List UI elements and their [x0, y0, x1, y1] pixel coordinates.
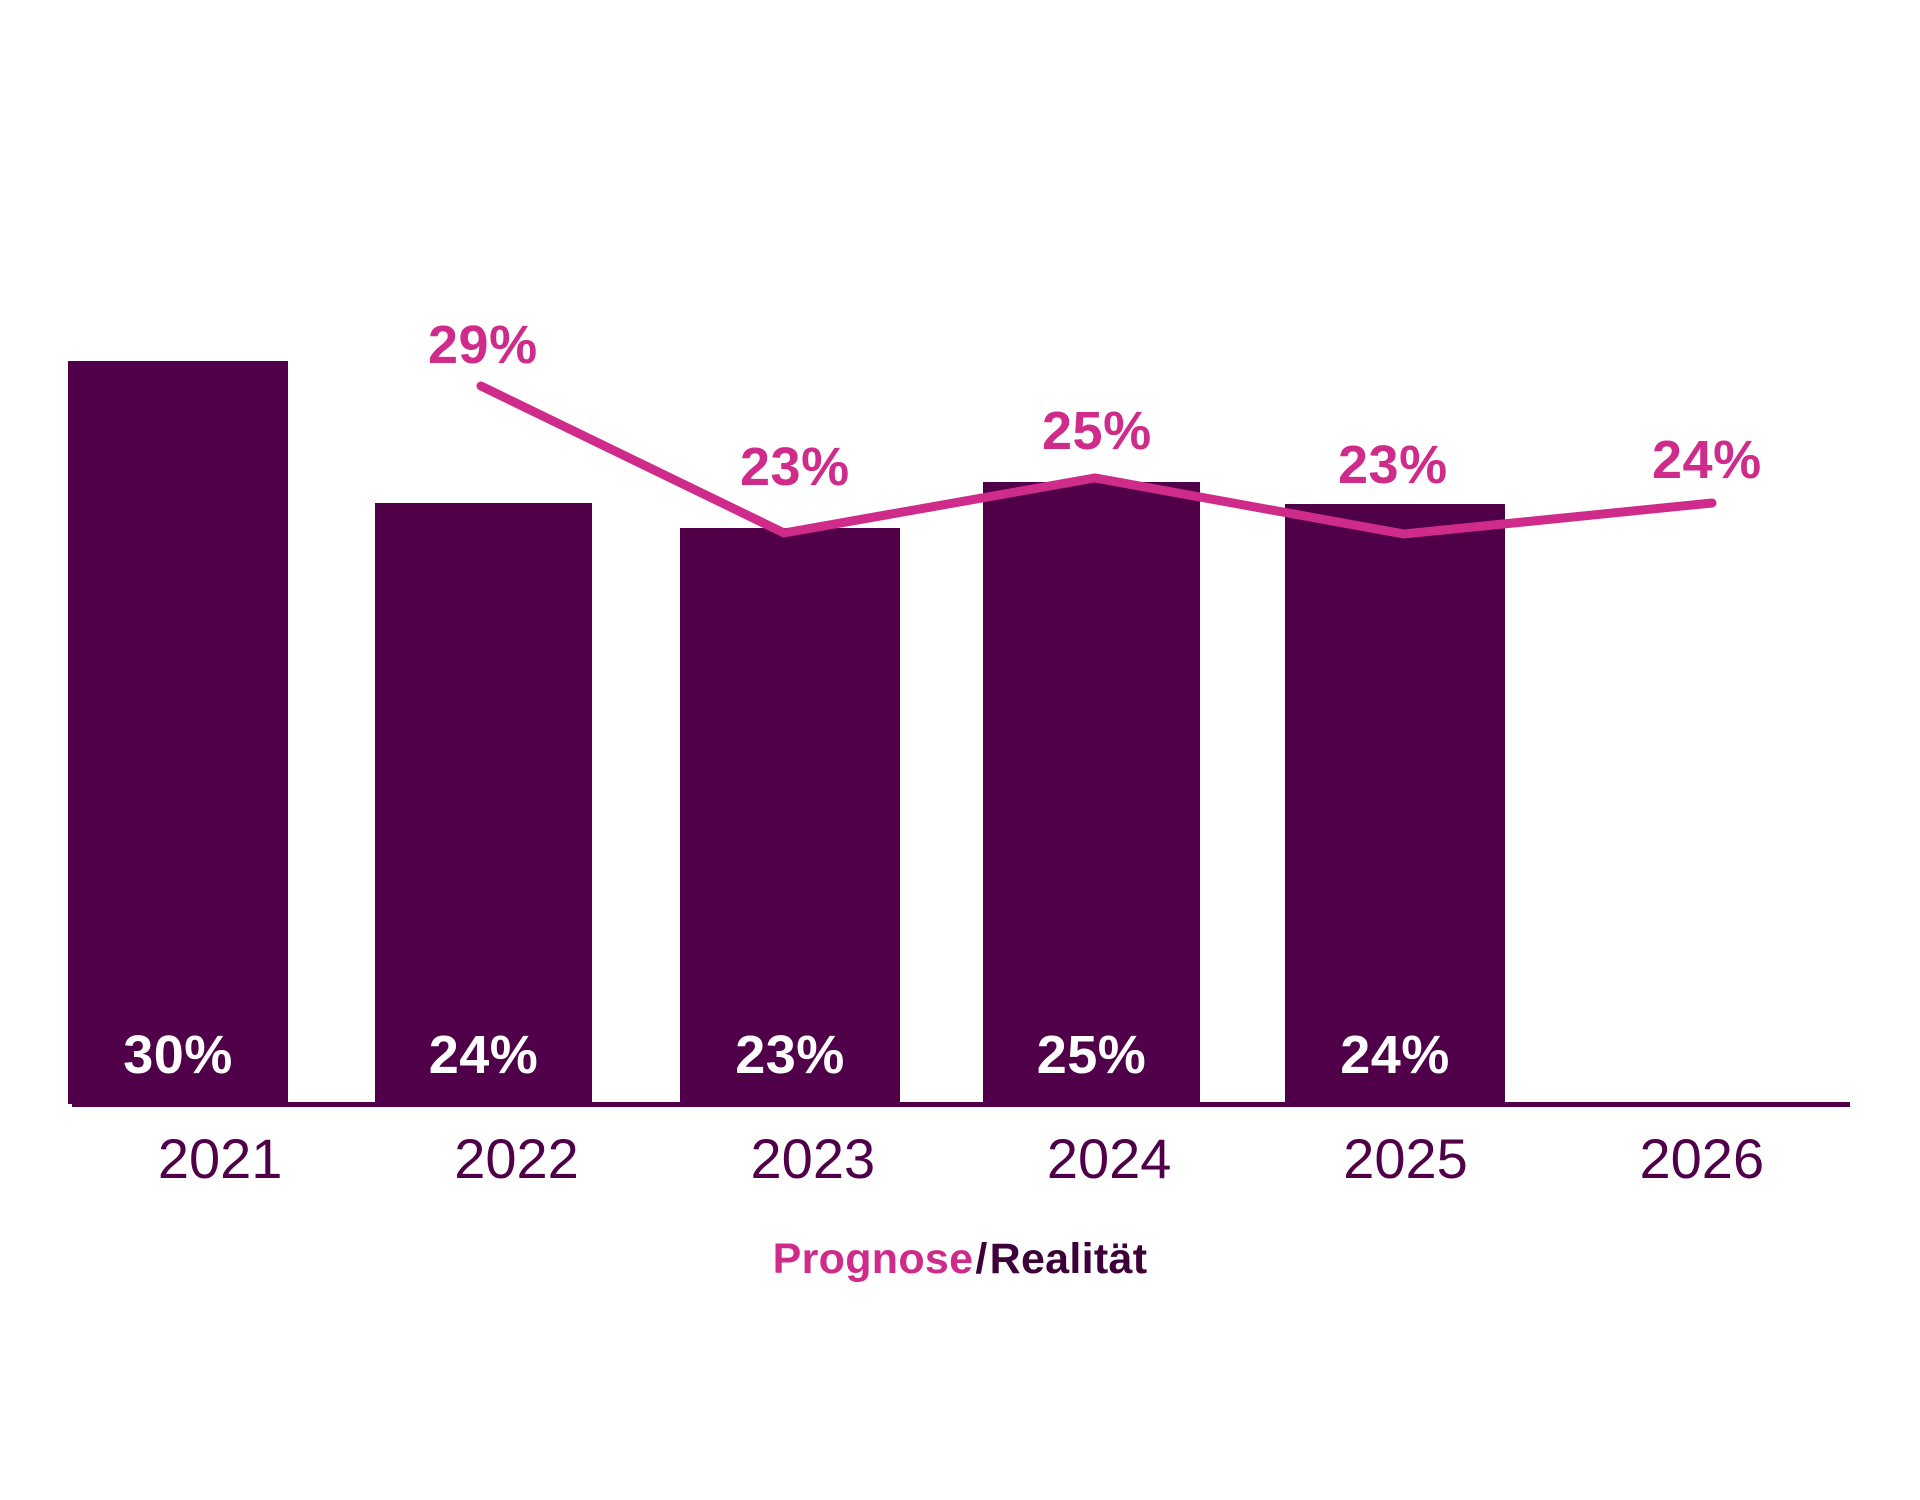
- x-tick-2023: 2023: [665, 1128, 961, 1208]
- bar-value-label: 30%: [68, 1028, 288, 1082]
- x-tick-2024: 2024: [961, 1128, 1257, 1208]
- plot-area: 30% 24% 23% 25% 24% 29% 23% 25% 23% 24%: [0, 0, 1920, 1180]
- bar-2022[interactable]: 24%: [375, 503, 592, 1104]
- x-tick-2022: 2022: [368, 1128, 664, 1208]
- chart-root: 30% 24% 23% 25% 24% 29% 23% 25% 23% 24% …: [0, 0, 1920, 1500]
- x-axis-tick-labels: 2021 2022 2023 2024 2025 2026: [72, 1128, 1850, 1208]
- line-value-label-2023: 23%: [740, 440, 850, 494]
- bar-2023[interactable]: 23%: [680, 528, 900, 1104]
- line-value-label-2026: 24%: [1652, 433, 1762, 487]
- x-axis-line: [72, 1102, 1850, 1107]
- line-value-label-2022: 29%: [428, 318, 538, 372]
- x-tick-2025: 2025: [1257, 1128, 1553, 1208]
- legend: Prognose/Realität: [0, 1238, 1920, 1281]
- bar-2024[interactable]: 25%: [983, 482, 1200, 1104]
- bar-value-label: 25%: [983, 1028, 1200, 1082]
- line-value-label-2024: 25%: [1042, 404, 1152, 458]
- bar-2025[interactable]: 24%: [1285, 504, 1505, 1104]
- forecast-line: [0, 0, 1920, 1180]
- legend-item-prognose: Prognose: [773, 1235, 974, 1283]
- x-tick-2021: 2021: [72, 1128, 368, 1208]
- line-value-label-2025: 23%: [1338, 438, 1448, 492]
- bar-value-label: 23%: [680, 1028, 900, 1082]
- legend-item-realitaet: Realität: [990, 1235, 1148, 1283]
- x-tick-2026: 2026: [1554, 1128, 1850, 1208]
- bar-value-label: 24%: [1285, 1028, 1505, 1082]
- bar-2021[interactable]: 30%: [68, 361, 288, 1104]
- bar-value-label: 24%: [375, 1028, 592, 1082]
- legend-separator: /: [973, 1235, 989, 1283]
